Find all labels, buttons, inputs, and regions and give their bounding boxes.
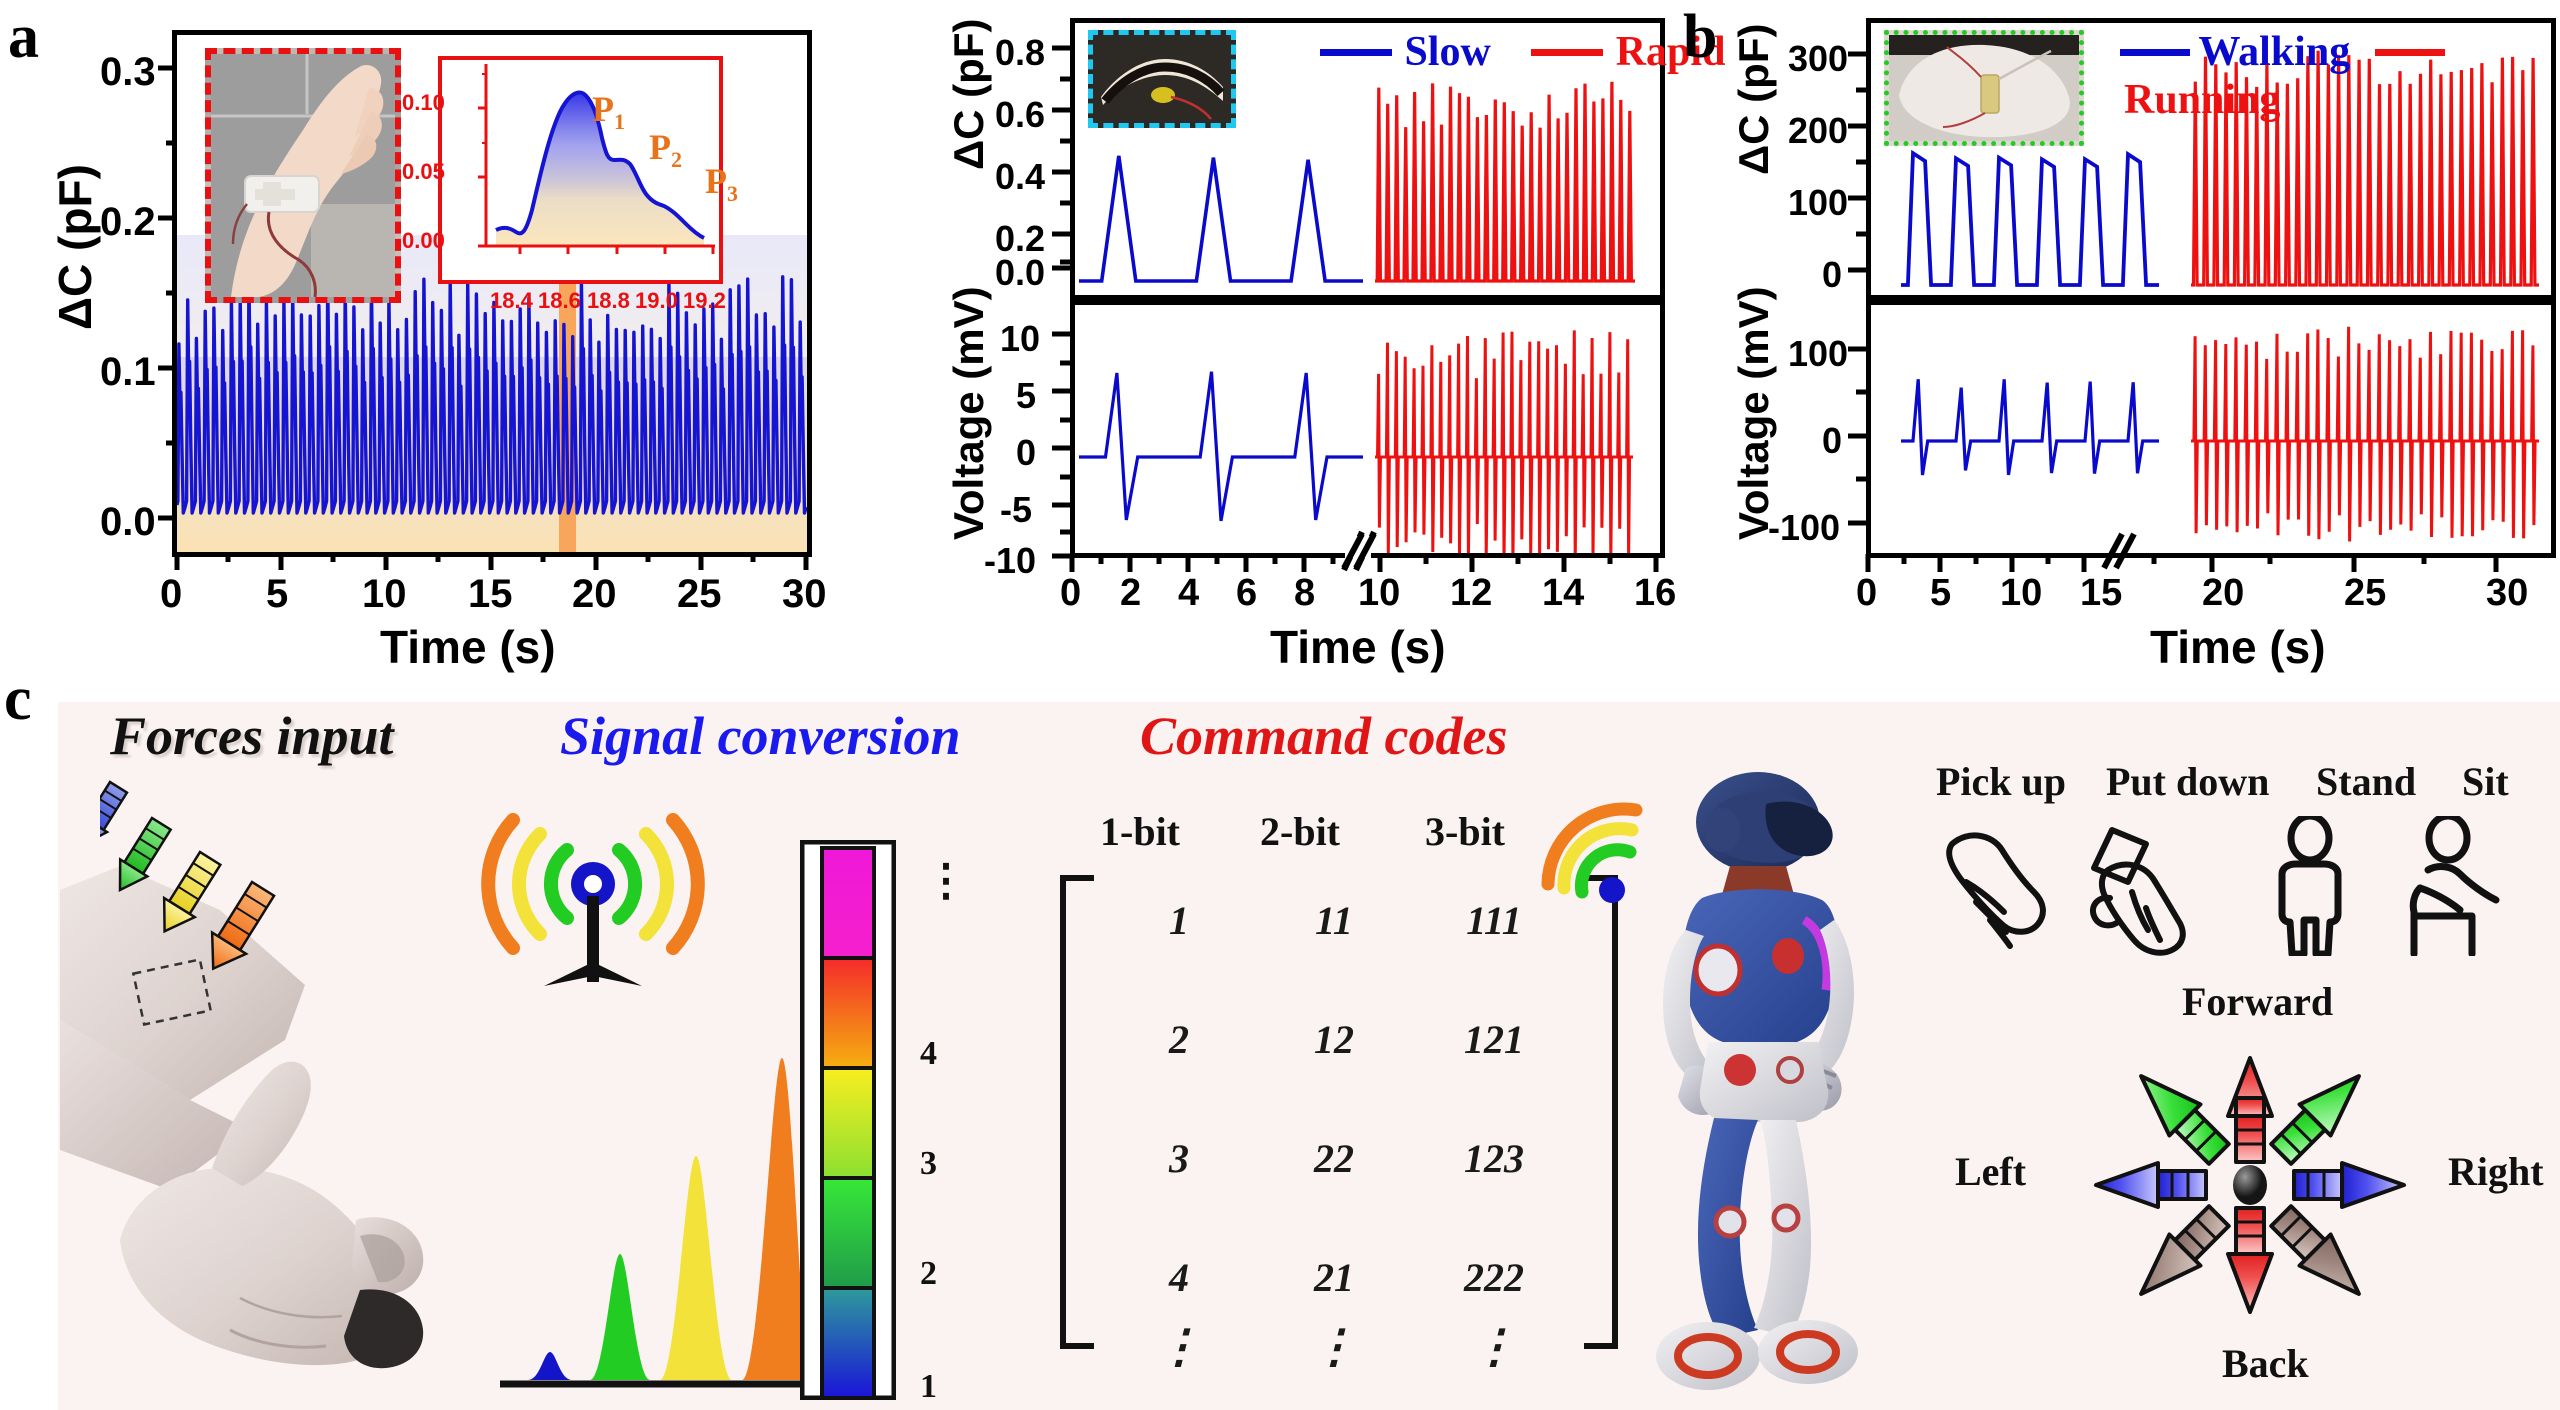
panel-mid-bot-ytick-4: 10: [1000, 318, 1040, 360]
legend-label-walking: Walking: [2198, 29, 2350, 75]
person-sitting-icon: [2413, 816, 2496, 954]
panel-c-heading-forces: Forces input: [110, 705, 394, 767]
arrow-back: [2228, 1208, 2272, 1312]
panel-b-bottom-ylabel: Voltage (mV): [1730, 286, 1778, 540]
command-icons-row: [1920, 816, 2540, 956]
force-arrow-orange: [196, 878, 280, 979]
matrix-cell: ⋮: [1254, 1319, 1414, 1373]
panel-mid-bottom-ylabel: Voltage (mV): [945, 286, 993, 540]
panel-mid-bot-ytick-2: 0: [1016, 432, 1036, 474]
arrow-right: [2294, 1163, 2404, 1207]
panel-b-xtick-1: 5: [1930, 572, 1951, 615]
panel-b-legend: Walking Running: [2120, 28, 2560, 124]
force-arrow-yellow: [149, 849, 225, 941]
forces-arrow-group: [100, 780, 360, 1000]
matrix-header-1bit: 1-bit: [1060, 808, 1220, 855]
panel-mid-xtick-5: 10: [1358, 572, 1400, 615]
legend-swatch-walking: [2120, 49, 2190, 56]
panel-a-xtick-3: 15: [468, 572, 513, 617]
panel-mid-top-ytick-3: 0.6: [995, 94, 1045, 136]
panel-a-xtick-2: 10: [362, 572, 407, 617]
hand-put-down-icon: [2093, 830, 2183, 953]
panel-a-inset-xtick-4: 19.2: [683, 288, 726, 314]
direction-label-left: Left: [1955, 1148, 2026, 1195]
panel-mid-top-ytick-0: 0.0: [995, 252, 1045, 294]
panel-b-xtick-4: 20: [2202, 572, 2244, 615]
panel-a-ytick-2: 0.1: [100, 350, 156, 395]
matrix-cell: 21: [1254, 1254, 1414, 1301]
finger-bending-sensor-photo: [1088, 30, 1236, 128]
panel-a-inset-xtick-3: 19.0: [635, 288, 678, 314]
matrix-row: ⋮ ⋮ ⋮: [1104, 1319, 1574, 1373]
panel-mid-bot-ytick-3: 5: [1016, 375, 1036, 417]
panel-a-inset-ytick-0: 0.00: [402, 228, 445, 254]
matrix-cell: 22: [1254, 1135, 1414, 1182]
matrix-cell: 11: [1254, 897, 1414, 944]
arrow-diag-ne: [2266, 1061, 2375, 1170]
panel-mid-top-ytick-2: 0.4: [995, 156, 1045, 198]
panel-b-xtick-5: 25: [2344, 572, 2386, 615]
peak-label-p2: P2: [649, 126, 682, 173]
panel-mid-xtick-0: 0: [1060, 572, 1081, 615]
panel-mid-xtick-2: 4: [1178, 572, 1199, 615]
panel-mid-voltage-chart: [1075, 305, 1660, 553]
legend-label-slow: Slow: [1404, 29, 1490, 75]
panel-a-xtick-0: 0: [160, 572, 182, 617]
panel-b-top-ytick-3: 300: [1788, 38, 1848, 80]
matrix-cell: 12: [1254, 1016, 1414, 1063]
color-scale-label-3: 3: [920, 1145, 937, 1183]
panel-mid-xtick-3: 6: [1236, 572, 1257, 615]
matrix-row: 2 12 121: [1104, 1016, 1574, 1063]
arrow-forward: [2228, 1058, 2272, 1162]
panel-mid-xtick-4: 8: [1294, 572, 1315, 615]
panel-a-inset-ytick-2: 0.10: [402, 90, 445, 116]
color-scale-label-4: 4: [920, 1035, 937, 1073]
signal-peak-2: [590, 1254, 650, 1380]
command-label-stand: Stand: [2316, 758, 2416, 805]
panel-b-bottom-plot: [1866, 300, 2556, 558]
panel-b-letter: b: [1683, 6, 1717, 68]
panel-mid-xlabel: Time (s): [1270, 620, 1446, 674]
panel-a-xtick-5: 25: [677, 572, 722, 617]
wrist-sensor-photo: [205, 48, 401, 303]
arrow-diag-sw: [2126, 1061, 2235, 1170]
peak-label-p1: P1: [592, 88, 625, 135]
signal-peak-3: [660, 1156, 732, 1380]
arrow-diag-se: [2266, 1201, 2375, 1310]
command-label-sit: Sit: [2462, 758, 2509, 805]
panel-a-ytick-3: 0.0: [100, 500, 156, 545]
matrix-cell: 123: [1414, 1135, 1574, 1182]
panel-a-ylabel: ΔC (pF): [48, 164, 102, 330]
matrix-cell: 121: [1414, 1016, 1574, 1063]
color-scale-label-dots: ⋮: [924, 855, 968, 906]
panel-a-xtick-1: 5: [266, 572, 288, 617]
compass-hub: [2233, 1165, 2267, 1205]
legend-swatch-slow: [1320, 49, 1392, 56]
color-scale-label-2: 2: [920, 1255, 937, 1293]
panel-c-heading-command: Command codes: [1140, 705, 1508, 767]
panel-a-inset-xtick-0: 18.4: [490, 288, 533, 314]
matrix-cell: 222: [1414, 1254, 1574, 1301]
panel-b-xtick-0: 0: [1856, 572, 1877, 615]
panel-b-top-ytick-2: 200: [1788, 110, 1848, 152]
color-scale-bar: [800, 840, 896, 1400]
legend-label-running: Running: [2124, 77, 2280, 123]
command-label-pickup: Pick up: [1936, 758, 2066, 805]
panel-b-top-ytick-0: 0: [1822, 254, 1842, 296]
panel-a-letter: a: [8, 6, 39, 68]
matrix-cell: ⋮: [1104, 1319, 1254, 1373]
panel-a-inset-ytick-1: 0.05: [402, 159, 445, 185]
panel-b-bot-ytick-2: 100: [1788, 333, 1848, 375]
matrix-row: 4 21 222: [1104, 1254, 1574, 1301]
matrix-header-2bit: 2-bit: [1220, 808, 1380, 855]
panel-a-xlabel: Time (s): [380, 620, 556, 674]
panel-c-heading-signal: Signal conversion: [560, 705, 961, 767]
panel-b-top-ytick-1: 100: [1788, 182, 1848, 224]
signal-peak-1: [528, 1352, 572, 1380]
peak-label-p3: P3: [705, 160, 738, 207]
arrow-diag-nw: [2126, 1201, 2235, 1310]
knee-sensor-photo: [1884, 30, 2084, 146]
arrow-left: [2096, 1163, 2206, 1207]
panel-b-xtick-2: 10: [2000, 572, 2042, 615]
person-standing-icon: [2282, 816, 2338, 954]
panel-mid-top-ylabel: ΔC (pF): [945, 19, 993, 170]
panel-mid-legend: Slow Rapid: [1320, 28, 1725, 76]
panel-mid-xtick-7: 14: [1542, 572, 1584, 615]
panel-b-bot-ytick-0: -100: [1768, 507, 1840, 549]
matrix-row: 1 11 111: [1104, 897, 1574, 944]
panel-a-xtick-4: 20: [572, 572, 617, 617]
panel-b-top-ylabel: ΔC (pF): [1730, 24, 1778, 175]
panel-a-xtick-6: 30: [782, 572, 827, 617]
humanoid-robot-illustration: [1590, 770, 1950, 1410]
command-codes-matrix: 1-bit 2-bit 3-bit 1 11 111 2 12 121 3 22…: [1060, 808, 1618, 1373]
panel-mid-xtick-1: 2: [1120, 572, 1141, 615]
legend-swatch-running: [2375, 49, 2445, 56]
panel-a-ytick-1: 0.2: [100, 200, 156, 245]
panel-mid-top-ytick-4: 0.8: [995, 32, 1045, 74]
panel-b-xtick-6: 30: [2486, 572, 2528, 615]
panel-c-letter: c: [4, 668, 32, 730]
signal-peaks-group: [500, 960, 810, 1400]
panel-a-ytick-0: 0.3: [100, 50, 156, 95]
matrix-header-3bit: 3-bit: [1380, 808, 1550, 855]
panel-b-xtick-3: 15: [2080, 572, 2122, 615]
panel-mid-xtick-6: 12: [1450, 572, 1492, 615]
command-label-putdown: Put down: [2106, 758, 2269, 805]
matrix-row: 3 22 123: [1104, 1135, 1574, 1182]
panel-a-inset-xtick-2: 18.8: [587, 288, 630, 314]
panel-b-bot-ytick-1: 0: [1822, 420, 1842, 462]
legend-swatch-rapid: [1531, 49, 1603, 56]
matrix-bracket-left: [1060, 875, 1094, 1349]
panel-b-xlabel: Time (s): [2150, 620, 2326, 674]
panel-mid-xtick-8: 16: [1634, 572, 1676, 615]
panel-mid-bot-ytick-0: -10: [984, 540, 1036, 582]
color-scale-label-1: 1: [920, 1368, 937, 1406]
force-arrow-blue: [100, 780, 130, 852]
matrix-cell: ⋮: [1414, 1319, 1574, 1373]
matrix-cell: 3: [1104, 1135, 1254, 1182]
panel-b-voltage-chart: [1871, 305, 2551, 553]
hand-pick-up-icon: [1949, 835, 2043, 946]
panel-mid-bot-ytick-1: -5: [1000, 489, 1032, 531]
force-arrow-green: [106, 815, 174, 898]
matrix-cell: 2: [1104, 1016, 1254, 1063]
panel-a-inset-xtick-1: 18.6: [538, 288, 581, 314]
panel-mid-bottom-plot: [1070, 300, 1665, 558]
matrix-cell: 4: [1104, 1254, 1254, 1301]
matrix-cell: 1: [1104, 897, 1254, 944]
direction-compass: [2030, 1010, 2470, 1360]
